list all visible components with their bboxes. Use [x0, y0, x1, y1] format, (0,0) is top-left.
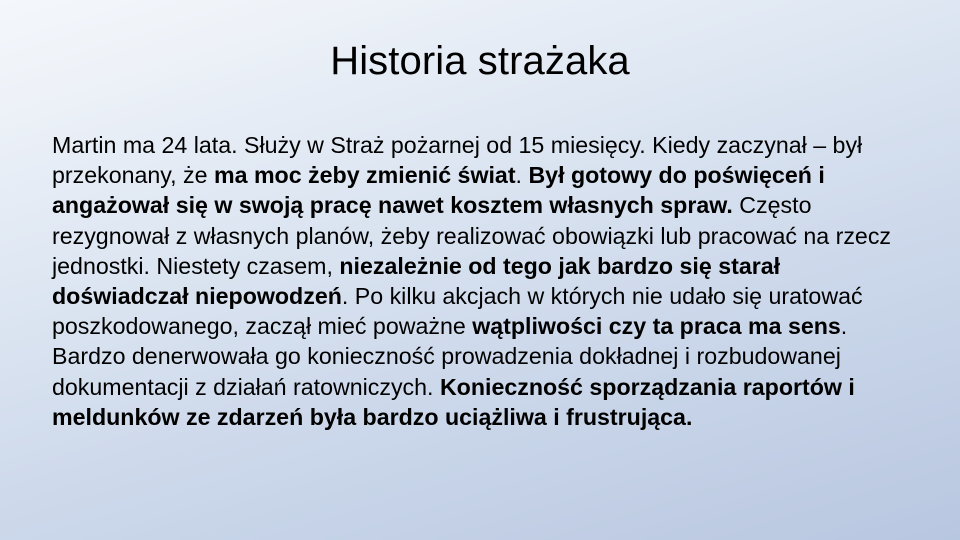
body-run-bold: ma moc żeby zmienić świat [214, 162, 516, 188]
presentation-slide: Historia strażaka Martin ma 24 lata. Słu… [0, 0, 960, 540]
body-paragraph: Martin ma 24 lata. Służy w Straż pożarne… [52, 130, 920, 432]
body-run-bold: wątpliwości czy ta praca ma sens [472, 313, 841, 339]
slide-body-placeholder[interactable]: Martin ma 24 lata. Służy w Straż pożarne… [52, 130, 920, 432]
slide-title-placeholder[interactable]: Historia strażaka [60, 36, 900, 86]
body-run-regular: . [516, 162, 529, 188]
page-title: Historia strażaka [60, 36, 900, 86]
